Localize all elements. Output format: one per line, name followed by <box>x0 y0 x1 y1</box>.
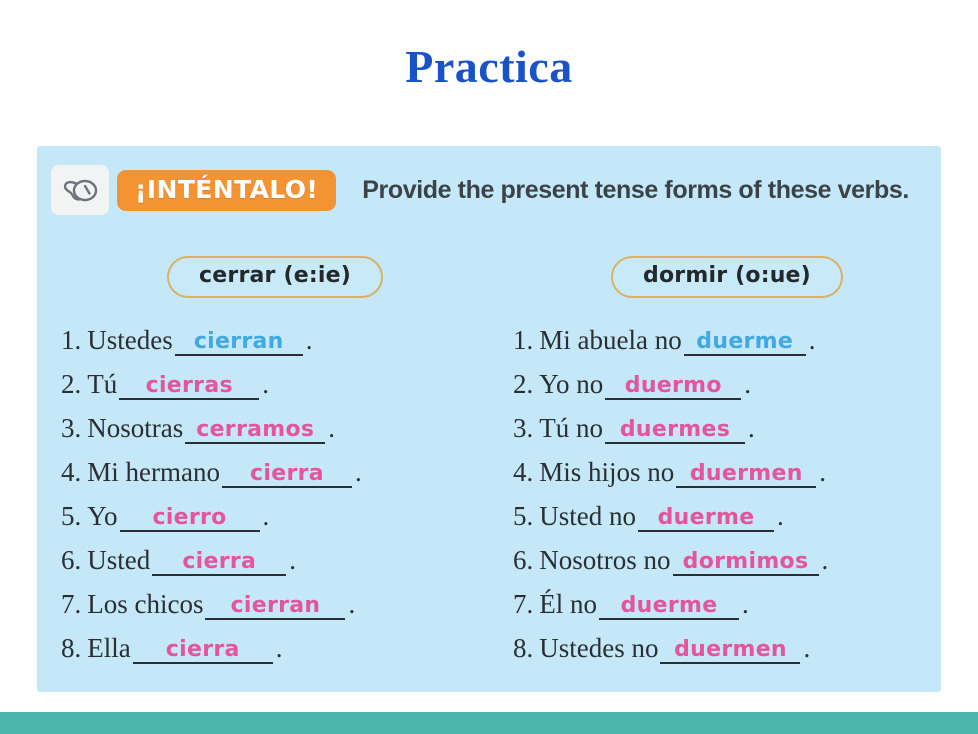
question-prompt: Ustedes <box>87 325 172 356</box>
answer-blank[interactable]: duermen <box>660 636 800 664</box>
activity-panel: ¡INTÉNTALO! Provide the present tense fo… <box>37 146 941 692</box>
intentalo-badge[interactable]: ¡INTÉNTALO! <box>117 170 336 211</box>
answer-text: duermen <box>690 463 803 485</box>
question-prompt: Yo <box>87 501 117 532</box>
question-period: . <box>263 501 270 532</box>
verb-pill-row: dormir (o:ue) <box>513 256 941 298</box>
answer-blank[interactable]: duerme <box>638 504 774 532</box>
question-row: 6. Ustedcierra. <box>61 532 489 576</box>
question-row: 8. Ustedes noduermen. <box>513 620 941 664</box>
question-period: . <box>742 589 749 620</box>
question-row: 3. Nosotrascerramos. <box>61 400 489 444</box>
question-prompt: Mis hijos no <box>539 457 674 488</box>
panel-header: ¡INTÉNTALO! Provide the present tense fo… <box>51 162 927 218</box>
question-prompt: Ella <box>87 633 130 664</box>
question-number: 6. <box>61 545 81 576</box>
answer-blank[interactable]: cierra <box>222 460 352 488</box>
question-prompt: Él no <box>539 589 597 620</box>
answer-blank[interactable]: dormimos <box>673 548 819 576</box>
answer-blank[interactable]: cierran <box>205 592 345 620</box>
question-period: . <box>777 501 784 532</box>
question-prompt: Usted no <box>539 501 636 532</box>
question-prompt: Mi abuela no <box>539 325 681 356</box>
question-number: 5. <box>513 501 533 532</box>
question-period: . <box>809 325 816 356</box>
answer-text: duerme <box>696 331 793 353</box>
answer-text: duerme <box>658 507 755 529</box>
question-period: . <box>276 633 283 664</box>
question-number: 3. <box>61 413 81 444</box>
answer-text: duerme <box>621 595 718 617</box>
question-period: . <box>328 413 335 444</box>
instruction-text: Provide the present tense forms of these… <box>362 176 909 205</box>
question-prompt: Nosotras <box>87 413 183 444</box>
answer-blank[interactable]: cierra <box>152 548 286 576</box>
question-row: 1. Mi abuela noduerme. <box>513 312 941 356</box>
answer-text: cierro <box>152 507 226 529</box>
question-row: 5. Usted noduerme. <box>513 488 941 532</box>
question-period: . <box>262 369 269 400</box>
answer-text: cierran <box>194 331 284 353</box>
answer-blank[interactable]: duermo <box>605 372 741 400</box>
question-period: . <box>803 633 810 664</box>
question-row: 4. Mis hijos noduermen. <box>513 444 941 488</box>
question-prompt: Nosotros no <box>539 545 670 576</box>
question-number: 8. <box>61 633 81 664</box>
verb-heading-cerrar: cerrar (e:ie) <box>167 256 383 298</box>
question-period: . <box>355 457 362 488</box>
question-period: . <box>348 589 355 620</box>
question-number: 4. <box>61 457 81 488</box>
answer-text: cierra <box>166 639 240 661</box>
answer-text: duermen <box>674 639 787 661</box>
answer-text: cierra <box>250 463 324 485</box>
question-row: 7. Él noduerme. <box>513 576 941 620</box>
question-number: 8. <box>513 633 533 664</box>
question-period: . <box>306 325 313 356</box>
question-number: 6. <box>513 545 533 576</box>
question-row: 8. Ellacierra. <box>61 620 489 664</box>
question-row: 7. Los chicoscierran. <box>61 576 489 620</box>
question-row: 1. Ustedescierran. <box>61 312 489 356</box>
question-list-cerrar: 1. Ustedescierran.2. Túcierras.3. Nosotr… <box>61 312 489 664</box>
verb-pill-row: cerrar (e:ie) <box>61 256 489 298</box>
computer-mouse-icon <box>51 165 109 215</box>
question-number: 7. <box>513 589 533 620</box>
answer-blank[interactable]: cierran <box>175 328 303 356</box>
question-period: . <box>819 457 826 488</box>
verb-heading-dormir: dormir (o:ue) <box>611 256 843 298</box>
question-row: 6. Nosotros nodormimos. <box>513 532 941 576</box>
answer-blank[interactable]: duermen <box>676 460 816 488</box>
answer-blank[interactable]: cierra <box>133 636 273 664</box>
question-list-dormir: 1. Mi abuela noduerme.2. Yo noduermo.3. … <box>513 312 941 664</box>
answer-blank[interactable]: duermes <box>605 416 745 444</box>
answer-text: duermes <box>620 419 730 441</box>
question-row: 4. Mi hermanocierra. <box>61 444 489 488</box>
question-row: 5. Yocierro. <box>61 488 489 532</box>
question-prompt: Los chicos <box>87 589 203 620</box>
answer-blank[interactable]: duerme <box>599 592 739 620</box>
question-number: 3. <box>513 413 533 444</box>
question-period: . <box>822 545 829 576</box>
question-number: 5. <box>61 501 81 532</box>
question-row: 2. Túcierras. <box>61 356 489 400</box>
question-prompt: Tú <box>87 369 117 400</box>
question-number: 2. <box>513 369 533 400</box>
question-prompt: Mi hermano <box>87 457 220 488</box>
question-period: . <box>748 413 755 444</box>
question-period: . <box>744 369 751 400</box>
question-number: 1. <box>513 325 533 356</box>
answer-text: dormimos <box>683 551 809 573</box>
verb-columns: cerrar (e:ie) 1. Ustedescierran.2. Túcie… <box>37 256 941 664</box>
question-prompt: Tú no <box>539 413 603 444</box>
question-prompt: Usted <box>87 545 150 576</box>
question-period: . <box>289 545 296 576</box>
verb-column-cerrar: cerrar (e:ie) 1. Ustedescierran.2. Túcie… <box>37 256 489 664</box>
page-title: Practica <box>0 44 978 90</box>
question-number: 7. <box>61 589 81 620</box>
answer-blank[interactable]: cierras <box>119 372 259 400</box>
question-row: 2. Yo noduermo. <box>513 356 941 400</box>
question-number: 4. <box>513 457 533 488</box>
bottom-accent-bar <box>0 712 978 734</box>
answer-blank[interactable]: cierro <box>120 504 260 532</box>
answer-text: cierras <box>146 375 233 397</box>
answer-text: cierran <box>231 595 321 617</box>
verb-column-dormir: dormir (o:ue) 1. Mi abuela noduerme.2. Y… <box>489 256 941 664</box>
question-prompt: Yo no <box>539 369 603 400</box>
answer-text: cierra <box>182 551 256 573</box>
question-number: 2. <box>61 369 81 400</box>
question-row: 3. Tú noduermes. <box>513 400 941 444</box>
answer-blank[interactable]: duerme <box>684 328 806 356</box>
answer-blank[interactable]: cerramos <box>185 416 325 444</box>
question-number: 1. <box>61 325 81 356</box>
answer-text: duermo <box>625 375 722 397</box>
question-prompt: Ustedes no <box>539 633 658 664</box>
answer-text: cerramos <box>196 419 314 441</box>
